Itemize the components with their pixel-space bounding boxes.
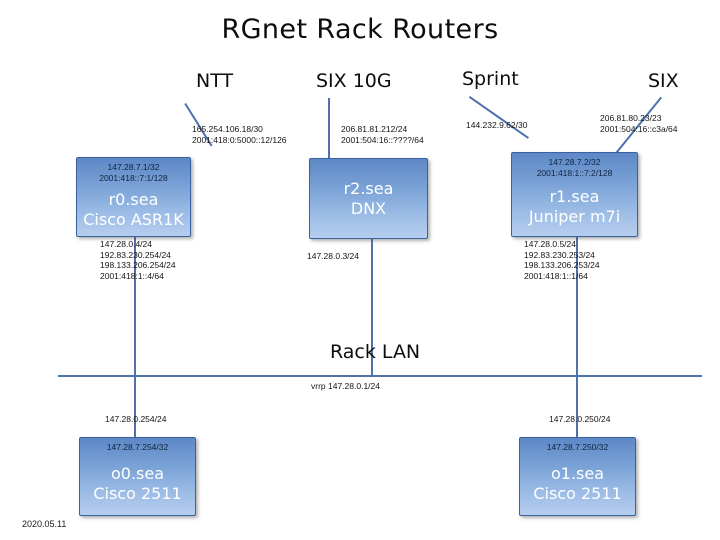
page-title: RGnet Rack Routers: [0, 14, 720, 45]
uplink-addresses-six: 206.81.80.23/23 2001:504:16::c3a/64: [600, 113, 678, 134]
node-r1-loopback: 147.28.7.2/32 2001:418:1::7:2/128: [537, 157, 613, 178]
footer-date: 2020.05.11: [22, 519, 66, 529]
node-o0-hostname: o0.sea: [111, 464, 164, 484]
node-r0-sea[interactable]: 147.28.7.1/32 2001:418::7:1/128 r0.sea C…: [76, 157, 191, 237]
uplink-addresses-ntt: 165.254.106.18/30 2001:418:0:5000::12/12…: [192, 124, 287, 145]
node-r0-names: r0.sea Cisco ASR1K: [77, 183, 190, 236]
downlink-line-lan-o1: [576, 377, 578, 437]
lan-addresses-r0: 147.28.0.4/24 192.83.230.254/24 198.133.…: [100, 239, 176, 281]
lan-addresses-r2: 147.28.0.3/24: [307, 251, 359, 262]
node-o1-names: o1.sea Cisco 2511: [520, 453, 635, 516]
node-o1-sea[interactable]: 147.28.7.250/32 o1.sea Cisco 2511: [519, 437, 636, 516]
downlink-line-lan-o0: [134, 377, 136, 437]
provider-label-six: SIX: [648, 70, 679, 92]
node-r1-model: Juniper m7i: [529, 207, 620, 227]
rack-lan-bus: [58, 375, 702, 377]
node-o0-loopback: 147.28.7.254/32: [107, 442, 168, 453]
lan-addresses-o0: 147.28.0.254/24: [105, 414, 166, 425]
node-o1-hostname: o1.sea: [551, 464, 604, 484]
lan-addresses-o1: 147.28.0.250/24: [549, 414, 610, 425]
node-r1-names: r1.sea Juniper m7i: [512, 178, 637, 236]
uplink-line-sprint: [469, 96, 529, 139]
node-o1-model: Cisco 2511: [533, 484, 621, 504]
provider-label-ntt: NTT: [196, 70, 233, 92]
lan-addresses-r1: 147.28.0.5/24 192.83.230.253/24 198.133.…: [524, 239, 600, 281]
rack-lan-vrrp-label: vrrp 147.28.0.1/24: [311, 381, 380, 392]
node-r0-loopback: 147.28.7.1/32 2001:418::7:1/128: [99, 162, 168, 183]
uplink-addresses-sprint: 144.232.9.62/30: [466, 120, 527, 131]
uplink-line-six-10g: [328, 98, 330, 158]
node-r2-names: r2.sea DNX: [310, 159, 427, 238]
rack-lan-title: Rack LAN: [330, 341, 420, 363]
node-r0-model: Cisco ASR1K: [83, 210, 184, 230]
uplink-addresses-six-10g: 206.81.81.212/24 2001:504:16::????/64: [341, 124, 424, 145]
node-o0-sea[interactable]: 147.28.7.254/32 o0.sea Cisco 2511: [79, 437, 196, 516]
node-o0-names: o0.sea Cisco 2511: [80, 453, 195, 516]
node-r0-hostname: r0.sea: [109, 190, 159, 210]
node-r2-sea[interactable]: r2.sea DNX: [309, 158, 428, 239]
node-r2-model: DNX: [351, 199, 386, 219]
node-o0-model: Cisco 2511: [93, 484, 181, 504]
node-r1-sea[interactable]: 147.28.7.2/32 2001:418:1::7:2/128 r1.sea…: [511, 152, 638, 237]
provider-label-sprint: Sprint: [462, 68, 519, 90]
provider-label-six-10g: SIX 10G: [316, 70, 392, 92]
network-diagram-canvas: RGnet Rack Routers NTT SIX 10G Sprint SI…: [0, 0, 720, 540]
node-o1-loopback: 147.28.7.250/32: [547, 442, 608, 453]
node-r1-hostname: r1.sea: [550, 187, 600, 207]
node-r2-hostname: r2.sea: [344, 179, 394, 199]
